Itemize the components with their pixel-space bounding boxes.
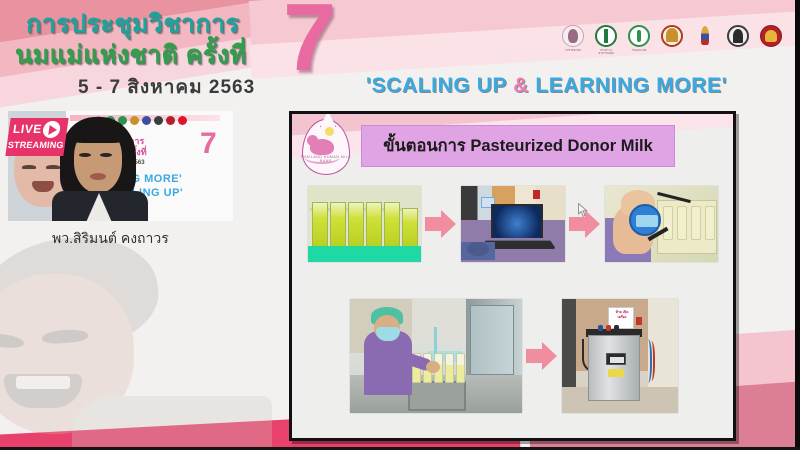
slide-title-text: ขั้นตอนการ Pasteurized Donor Milk <box>383 133 653 159</box>
slide-content-panel: THAILAND HUMAN MILK BANK ขั้นตอนการ Past… <box>289 111 736 441</box>
streaming-badge-label: STREAMING <box>7 140 64 150</box>
live-badge-label: LIVE <box>12 122 43 136</box>
tagline-part-1: 'SCALING UP <box>366 74 513 97</box>
royal-college-logo: ราชวิทยาลัย <box>560 25 586 55</box>
conference-header: การประชุมวิชาการ นมแม่แห่งชาติ ครั้งที่ … <box>0 0 800 104</box>
photo-pasteurizer-machine: ห้าม เปิด เครื่อง <box>562 299 678 413</box>
thai-pediatric-society-logo <box>659 25 685 55</box>
thai-red-cross-logo <box>758 25 784 55</box>
sponsor-logos-strip: ราชวิทยาลัย กระทรวงสาธารณสุข กรมอนามัย <box>560 25 800 55</box>
photo-milk-bottle-racks <box>308 186 421 262</box>
logo-caption: กระทรวงสาธารณสุข <box>593 49 619 55</box>
process-row-2: ห้าม เปิด เครื่อง <box>350 299 678 413</box>
logo-ring-text: THAILAND HUMAN MILK BANK <box>298 155 354 175</box>
conference-edition-number: 7 <box>283 0 336 86</box>
conference-date: 5 - 7 สิงหาคม 2563 <box>78 72 255 102</box>
mahidol-university-logo <box>725 25 751 55</box>
process-arrow-3 <box>522 339 562 373</box>
photo-nurse-preparing-bottles <box>350 299 522 413</box>
ministry-public-health-logo: กระทรวงสาธารณสุข <box>593 25 619 55</box>
play-icon <box>48 125 57 135</box>
thumbnail-edition-number: 7 <box>200 129 217 159</box>
human-milk-bank-logo: THAILAND HUMAN MILK BANK <box>296 117 358 179</box>
photo-laptop-workstation <box>461 186 565 262</box>
child-watermark-image <box>0 238 276 450</box>
logo-caption: กรมอนามัย <box>626 49 652 55</box>
photo-temperature-probe <box>605 186 718 262</box>
screen-right-border <box>795 0 800 450</box>
speaker-name: พว.สิริมนต์ คงถาวร <box>52 228 252 250</box>
process-row-1 <box>308 186 718 262</box>
tagline-part-2: LEARNING MORE' <box>529 74 727 97</box>
tagline-ampersand: & <box>513 74 529 97</box>
presentation-screen: การประชุมวิชาการ นมแม่แห่งชาติ ครั้งที่ … <box>0 0 800 450</box>
process-arrow-2 <box>565 207 605 241</box>
royal-emblem-logo <box>692 25 718 55</box>
slide-title-box: ขั้นตอนการ Pasteurized Donor Milk <box>361 125 675 167</box>
conference-tagline: 'SCALING UP & LEARNING MORE' <box>366 74 727 98</box>
department-health-logo: กรมอนามัย <box>626 25 652 55</box>
live-streaming-badge: LIVE STREAMING <box>5 118 68 156</box>
process-arrow-1 <box>421 207 461 241</box>
conference-title-line2: นมแม่แห่งชาติ ครั้งที่ <box>15 35 247 75</box>
machine-sign-text: ห้าม เปิด เครื่อง <box>611 310 633 319</box>
logo-caption: ราชวิทยาลัย <box>560 49 586 55</box>
